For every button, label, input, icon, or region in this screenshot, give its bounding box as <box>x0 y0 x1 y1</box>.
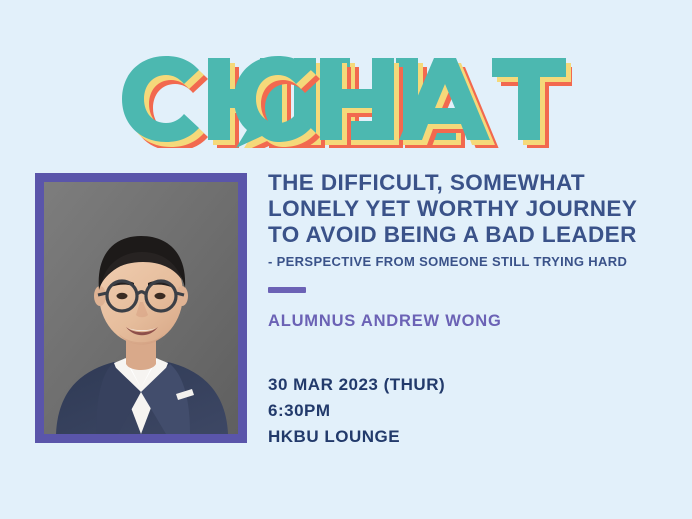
event-title-line-3: TO AVOID BEING A BAD LEADER <box>268 222 678 248</box>
event-title-line-1: THE DIFFICULT, SOMEWHAT <box>268 170 678 196</box>
speaker-name: ALUMNUS ANDREW WONG <box>268 312 678 331</box>
accent-divider <box>268 287 306 293</box>
speaker-photo-frame <box>35 173 247 443</box>
event-date: 30 MAR 2023 (THUR) <box>268 372 678 398</box>
event-text-column: THE DIFFICULT, SOMEWHAT LONELY YET WORTH… <box>268 170 678 450</box>
event-venue: HKBU LOUNGE <box>268 424 678 450</box>
event-subtitle: - PERSPECTIVE FROM SOMEONE STILL TRYING … <box>268 254 678 269</box>
event-poster: THE DIFFICULT, SOMEWHAT LONELY YET WORTH… <box>0 0 692 519</box>
chill-chat-logo <box>0 52 692 148</box>
event-title-line-2: LONELY YET WORTHY JOURNEY <box>268 196 678 222</box>
event-time: 6:30PM <box>268 398 678 424</box>
chill-chat-logo-icon <box>120 52 572 148</box>
portrait-illustration <box>44 182 238 434</box>
event-title: THE DIFFICULT, SOMEWHAT LONELY YET WORTH… <box>268 170 678 248</box>
speaker-photo <box>44 182 238 434</box>
event-details: 30 MAR 2023 (THUR) 6:30PM HKBU LOUNGE <box>268 372 678 449</box>
